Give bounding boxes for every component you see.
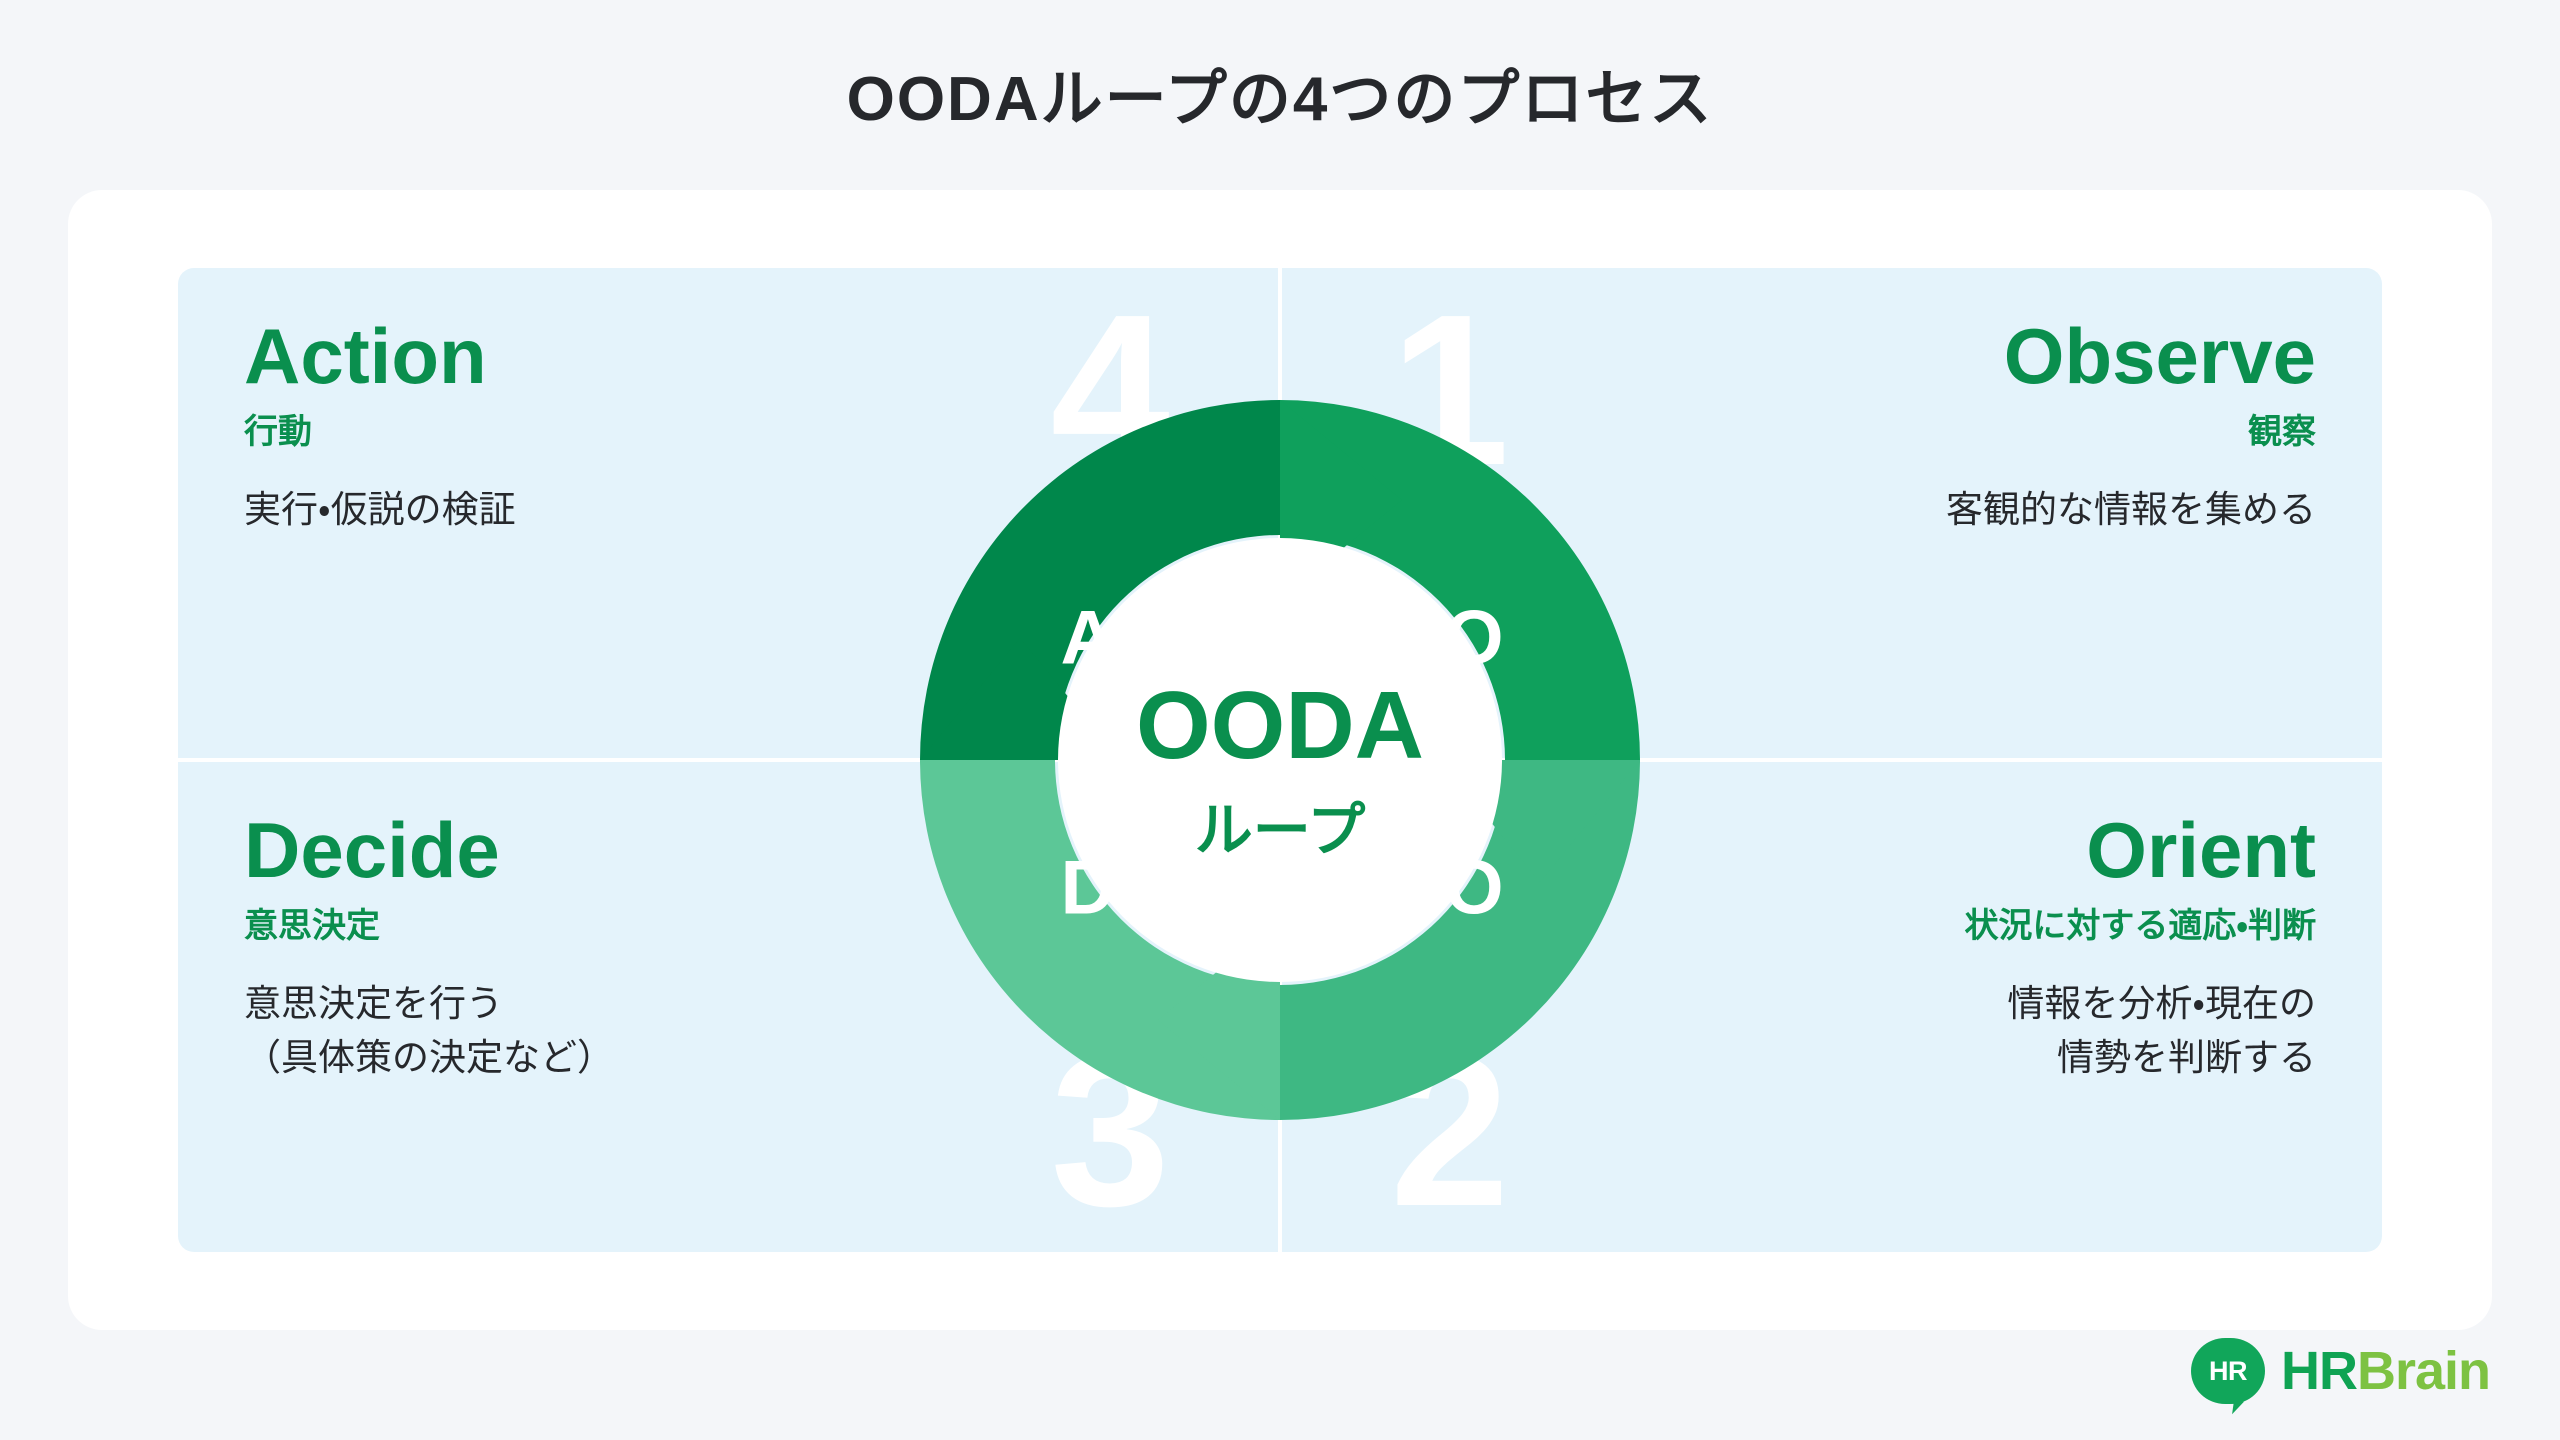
quadrant-grid: 4 Action 行動 実行・仮説の検証 1 Observe 観察 客観的な情報… (178, 268, 2382, 1252)
quadrant-orient-description: 情報を分析・現在の 情勢を判断する (1348, 977, 2316, 1084)
quadrant-observe: 1 Observe 観察 客観的な情報を集める (1282, 268, 2382, 758)
quadrant-observe-description: 客観的な情報を集める (1348, 483, 2316, 537)
page-title: OODAループの4つのプロセス (0, 48, 2560, 138)
hrbrain-logo: HR HRBrain (2191, 1338, 2490, 1404)
quadrant-decide-description: 意思決定を行う （具体策の決定など） (244, 977, 1212, 1084)
quadrant-action: 4 Action 行動 実行・仮説の検証 (178, 268, 1278, 758)
quadrant-action-title-en: Action (244, 314, 1212, 398)
quadrant-action-title-jp: 行動 (244, 412, 1212, 453)
quadrant-decide-title-jp: 意思決定 (244, 906, 1212, 947)
hrbrain-wordmark: HRBrain (2281, 1340, 2490, 1402)
quadrant-observe-title-jp: 観察 (1348, 412, 2316, 453)
hrbrain-wordmark-brain: Brain (2357, 1341, 2490, 1401)
hrbrain-wordmark-hr: HR (2281, 1341, 2357, 1401)
quadrant-action-description: 実行・仮説の検証 (244, 483, 1212, 537)
quadrant-orient: 2 Orient 状況に対する適応・判断 情報を分析・現在の 情勢を判断する (1282, 762, 2382, 1252)
quadrant-decide: 3 Decide 意思決定 意思決定を行う （具体策の決定など） (178, 762, 1278, 1252)
quadrant-orient-title-en: Orient (1348, 808, 2316, 892)
quadrant-observe-title-en: Observe (1348, 314, 2316, 398)
quadrant-decide-title-en: Decide (244, 808, 1212, 892)
hrbrain-bubble-icon: HR (2191, 1338, 2265, 1404)
quadrant-orient-title-jp: 状況に対する適応・判断 (1348, 906, 2316, 947)
hrbrain-bubble-label: HR (2209, 1356, 2247, 1387)
infographic-page: OODAループの4つのプロセス 4 Action 行動 実行・仮説の検証 1 O… (0, 0, 2560, 1440)
content-card: 4 Action 行動 実行・仮説の検証 1 Observe 観察 客観的な情報… (68, 190, 2492, 1330)
